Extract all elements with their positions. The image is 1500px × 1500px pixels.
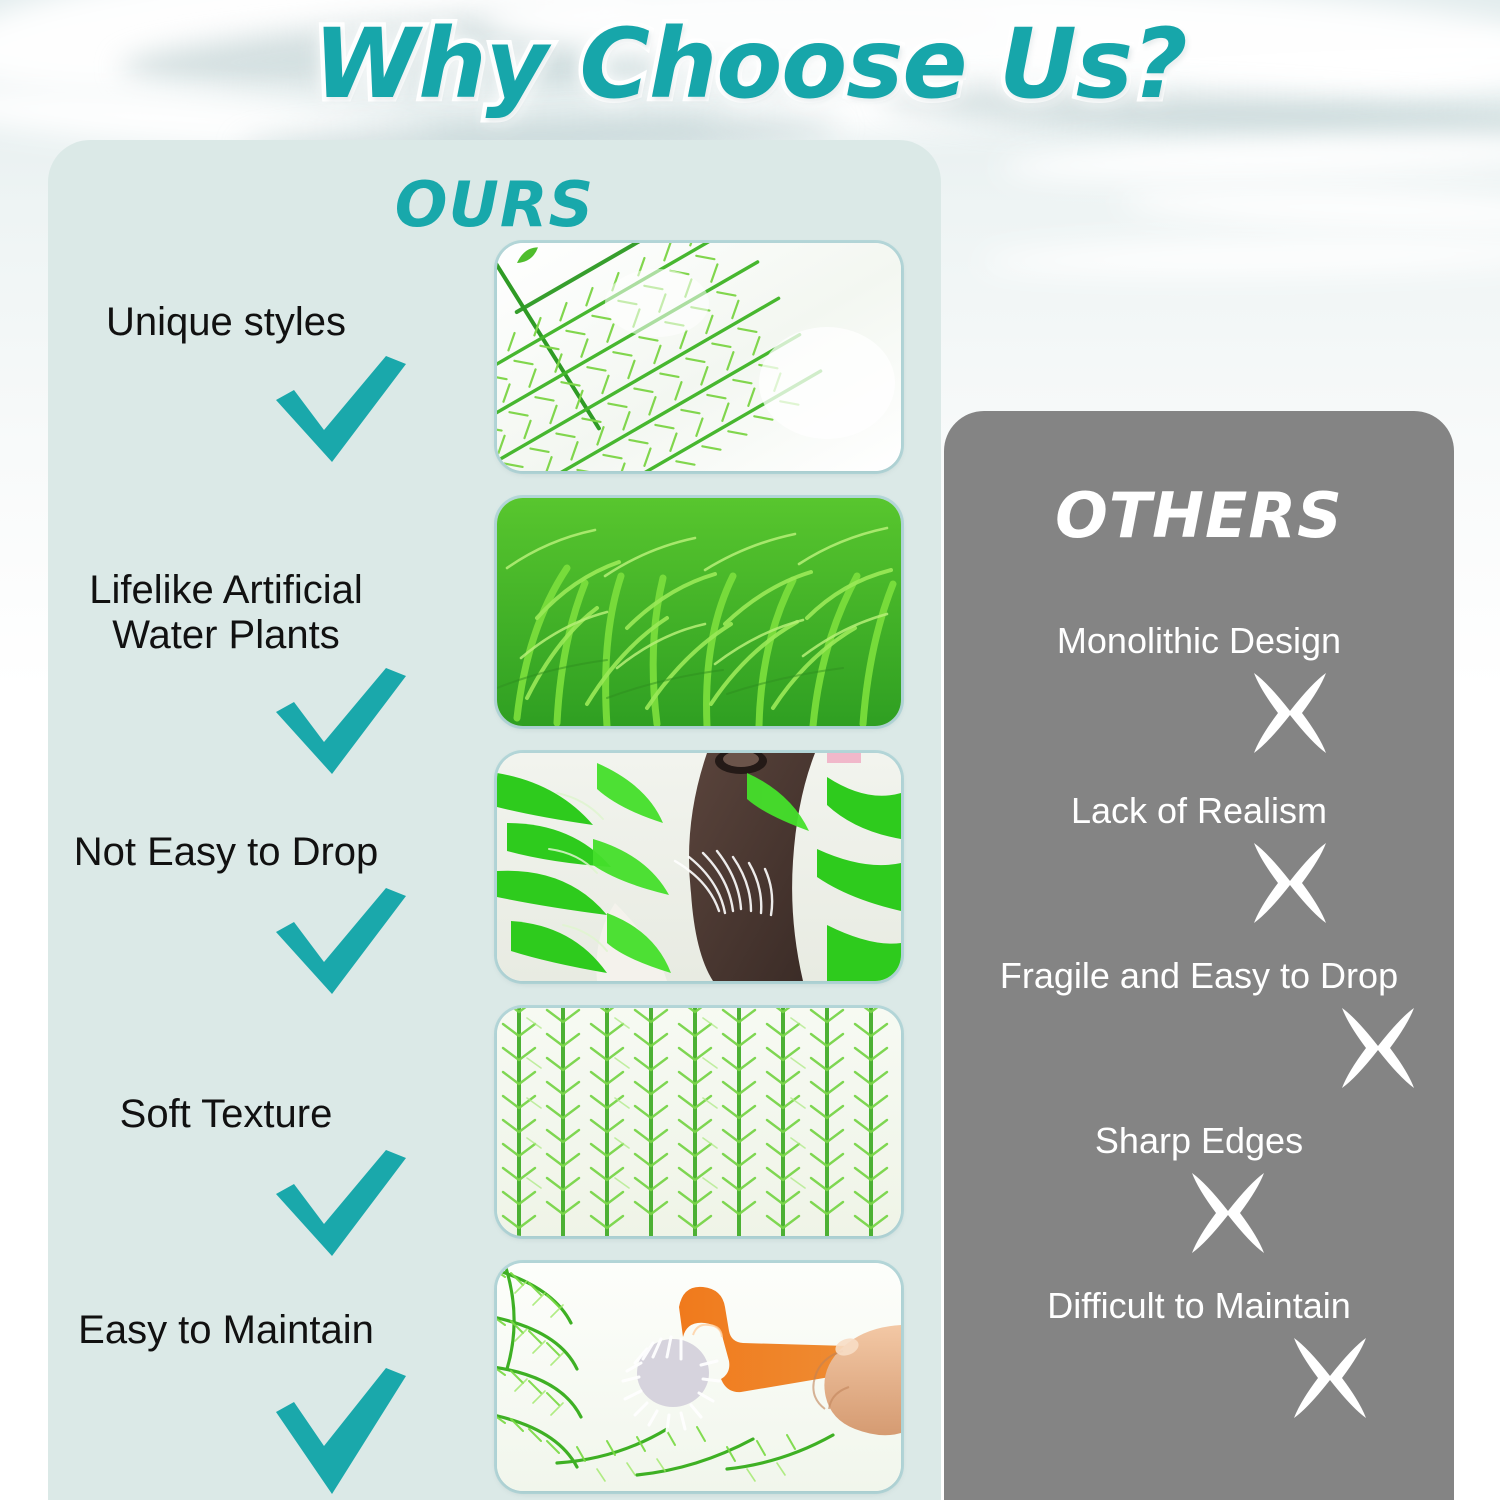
other-label: Fragile and Easy to Drop <box>944 956 1454 996</box>
check-icon <box>266 354 416 469</box>
x-icon <box>1182 1165 1274 1262</box>
feature-row-easy-to-maintain: Easy to Maintain <box>0 1308 452 1353</box>
check-icon <box>266 1148 416 1263</box>
photo-plant-with-dark-base <box>497 753 901 981</box>
feature-row-soft-texture: Soft Texture <box>0 1092 452 1137</box>
ours-heading: OURS <box>48 168 941 241</box>
photo-dense-green-fronds <box>497 498 901 726</box>
x-icon <box>1244 665 1336 762</box>
other-row-sharp-edges: Sharp Edges <box>944 1121 1454 1161</box>
feature-label: Easy to Maintain <box>0 1308 452 1353</box>
check-icon <box>266 1366 416 1500</box>
feature-row-not-easy-to-drop: Not Easy to Drop <box>0 830 452 875</box>
feature-row-unique-styles: Unique styles <box>0 300 452 345</box>
feature-row-lifelike-plants: Lifelike Artificial Water Plants <box>0 568 452 658</box>
check-icon <box>266 666 416 781</box>
photo-cleaning-with-brush <box>497 1263 901 1491</box>
other-label: Difficult to Maintain <box>944 1286 1454 1326</box>
infographic-root: Why Choose Us? OURS Unique styles Lifeli… <box>0 0 1500 1500</box>
other-row-monolithic-design: Monolithic Design <box>944 621 1454 661</box>
x-icon <box>1284 1330 1376 1427</box>
x-icon <box>1332 1000 1424 1097</box>
x-icon <box>1244 835 1336 932</box>
other-label: Monolithic Design <box>944 621 1454 661</box>
feature-label: Not Easy to Drop <box>0 830 452 875</box>
feature-label: Unique styles <box>0 300 452 345</box>
other-row-fragile-easy-to-drop: Fragile and Easy to Drop <box>944 956 1454 996</box>
feature-label: Soft Texture <box>0 1092 452 1137</box>
photo-plant-stems-on-white <box>497 243 901 471</box>
other-label: Lack of Realism <box>944 791 1454 831</box>
others-heading: OTHERS <box>944 479 1454 552</box>
page-title-text: Why Choose Us? <box>313 8 1186 120</box>
feature-label: Lifelike Artificial Water Plants <box>0 568 452 658</box>
photo-rows-of-plant-stems <box>497 1008 901 1236</box>
other-row-difficult-to-maintain: Difficult to Maintain <box>944 1286 1454 1326</box>
page-title: Why Choose Us? <box>0 8 1500 120</box>
other-row-lack-of-realism: Lack of Realism <box>944 791 1454 831</box>
check-icon <box>266 886 416 1001</box>
others-panel: OTHERS Monolithic Design Lack of Realism… <box>944 411 1454 1500</box>
other-label: Sharp Edges <box>944 1121 1454 1161</box>
